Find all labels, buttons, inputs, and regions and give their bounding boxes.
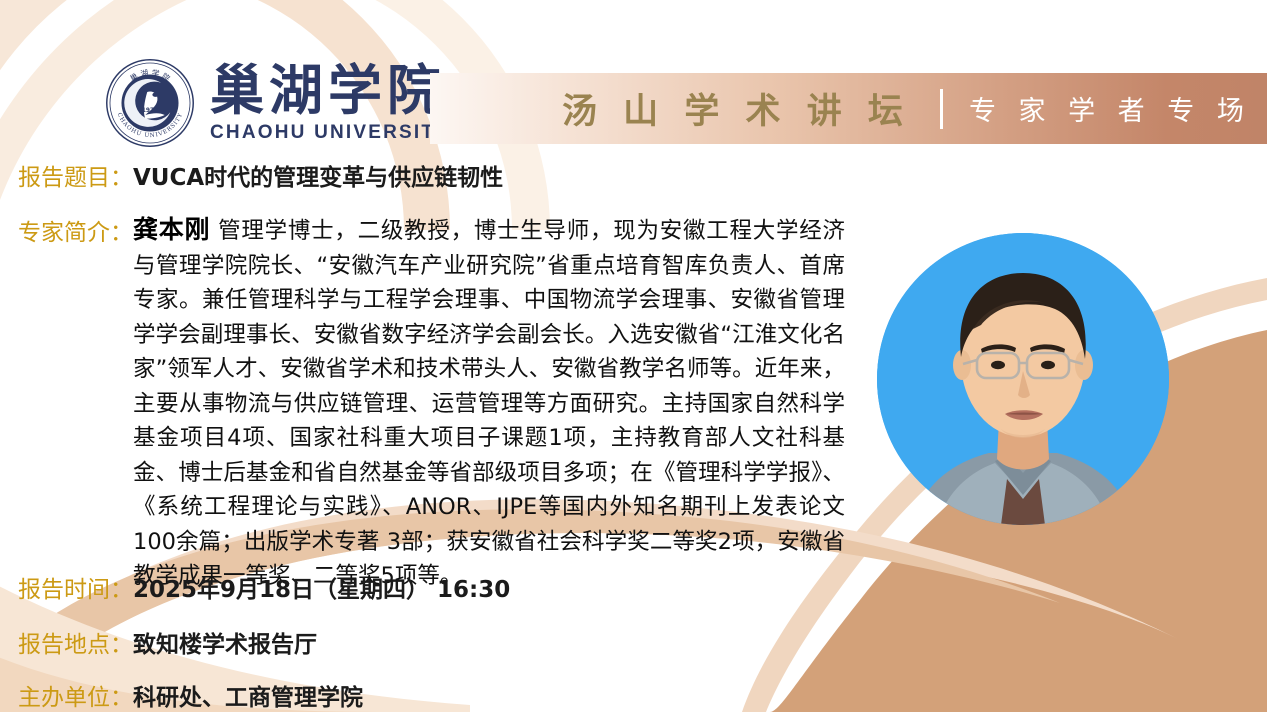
lecture-title-value: VUCA时代的管理变革与供应链韧性 [133,158,503,192]
lecture-time-label: 报告时间： [18,570,133,604]
university-seal-icon: 1977 巢 湖 学 院 CHAOHU UNIVERSITY [104,57,196,149]
lecture-place-value: 致知楼学术报告厅 [133,625,317,659]
banner-main-title: 汤 山 学 术 讲 坛 [562,83,910,134]
forum-banner: 汤 山 学 术 讲 坛 专 家 学 者 专 场 [430,73,1267,144]
lecture-time-value: 2025年9月18日（星期四） 16:30 [133,570,510,604]
lecture-host-value: 科研处、工商管理学院 [133,678,363,712]
speaker-portrait [877,233,1169,525]
speaker-name: 龚本刚 [133,215,210,244]
banner-separator [940,89,943,129]
banner-subtitle: 专 家 学 者 专 场 [969,89,1251,128]
university-logo: 1977 巢 湖 学 院 CHAOHU UNIVERSITY 巢湖学院 CHAO… [104,57,450,149]
lecture-host-label: 主办单位： [18,678,133,712]
logo-name-cn: 巢湖学院 [210,63,446,117]
lecture-title-row: 报告题目： VUCA时代的管理变革与供应链韧性 [18,158,503,192]
speaker-bio-body: 龚本刚 管理学博士，二级教授，博士生导师，现为安徽工程大学经济与管理学院院长、“… [133,213,845,594]
lecture-time-row: 报告时间： 2025年9月18日（星期四） 16:30 [18,570,510,604]
lecture-title-label: 报告题目： [18,158,133,192]
poster-root: 1977 巢 湖 学 院 CHAOHU UNIVERSITY 巢湖学院 CHAO… [0,0,1267,712]
logo-name-en: CHAOHU UNIVERSITY [210,122,450,144]
speaker-bio-row: 专家简介： 龚本刚 管理学博士，二级教授，博士生导师，现为安徽工程大学经济与管理… [18,213,845,594]
svg-text:1977: 1977 [142,108,158,114]
lecture-place-row: 报告地点： 致知楼学术报告厅 [18,625,317,659]
lecture-place-label: 报告地点： [18,625,133,659]
lecture-host-row: 主办单位： 科研处、工商管理学院 [18,678,363,712]
speaker-bio-text: 管理学博士，二级教授，博士生导师，现为安徽工程大学经济与管理学院院长、“安徽汽车… [133,218,845,589]
speaker-bio-label: 专家简介： [18,213,133,247]
